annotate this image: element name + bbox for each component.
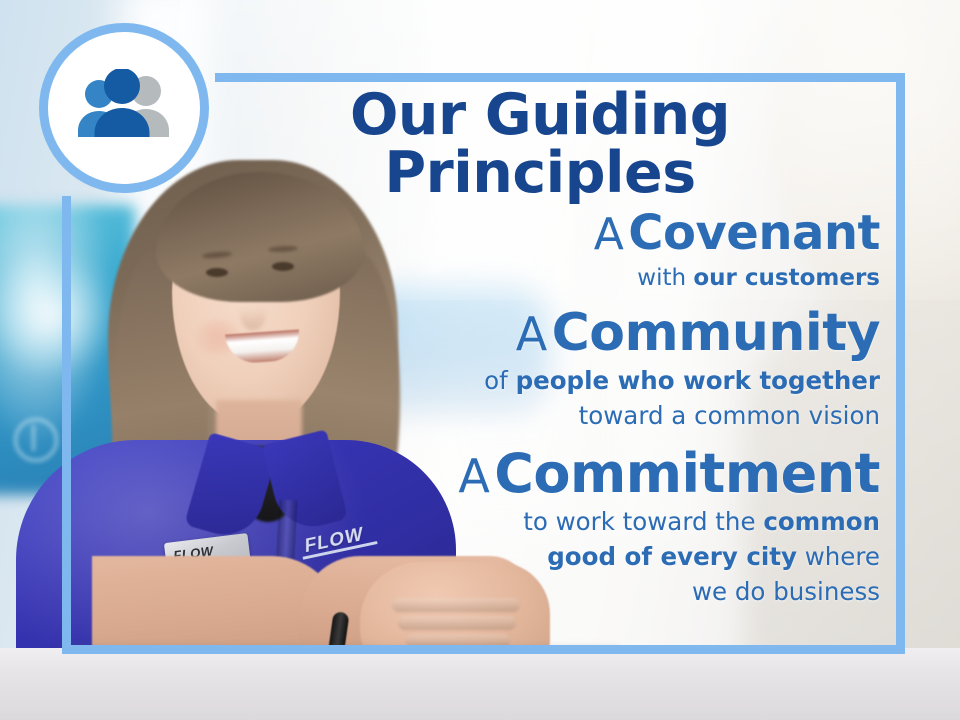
subtext-emphasis: people who work together xyxy=(516,366,880,395)
principles-list: A Covenantwith our customersA Communityo… xyxy=(200,208,880,607)
principle-subtext-line: toward a common vision xyxy=(200,401,880,431)
principle-article: A xyxy=(594,209,624,260)
principle-subtext-line: good of every city where xyxy=(200,542,880,572)
desk-surface xyxy=(0,648,960,720)
employee-finger xyxy=(398,616,516,630)
employee-finger xyxy=(406,634,510,648)
principle-subtext-line: we do business xyxy=(200,577,880,607)
principle-item: A Communityof people who work togetherto… xyxy=(200,306,880,431)
subtext-emphasis: our customers xyxy=(693,265,880,291)
principle-article: A xyxy=(516,307,547,361)
principles-text-block: Our Guiding Principles A Covenantwith ou… xyxy=(200,86,880,607)
subtext-plain: where xyxy=(797,542,880,571)
principle-article: A xyxy=(458,449,489,503)
subtext-emphasis: good of every city xyxy=(547,542,797,571)
subtext-plain: of xyxy=(484,366,515,395)
principle-subtext-line: with our customers xyxy=(200,264,880,292)
principle-title: A Community xyxy=(200,306,880,361)
subtext-plain: to work toward the xyxy=(523,507,763,536)
people-group-icon xyxy=(72,69,176,147)
subtext-plain: toward a common vision xyxy=(579,401,880,430)
principle-keyword: Community xyxy=(552,303,880,363)
guiding-principles-banner: FLOW FLOW AUTOMOTIVE xyxy=(0,0,960,720)
people-group-badge xyxy=(48,32,200,184)
page-title: Our Guiding Principles xyxy=(200,86,880,202)
principle-subtext-line: of people who work together xyxy=(200,366,880,396)
principle-title: A Covenant xyxy=(200,208,880,259)
principle-keyword: Commitment xyxy=(494,442,880,505)
principle-title: A Commitment xyxy=(200,445,880,502)
subtext-plain: with xyxy=(637,265,693,291)
subtext-plain: we do business xyxy=(692,577,880,606)
principle-item: A Commitmentto work toward the commongoo… xyxy=(200,445,880,607)
principle-subtext-line: to work toward the common xyxy=(200,507,880,537)
principle-keyword: Covenant xyxy=(628,205,880,261)
subtext-emphasis: common xyxy=(763,507,880,536)
principle-item: A Covenantwith our customers xyxy=(200,208,880,292)
